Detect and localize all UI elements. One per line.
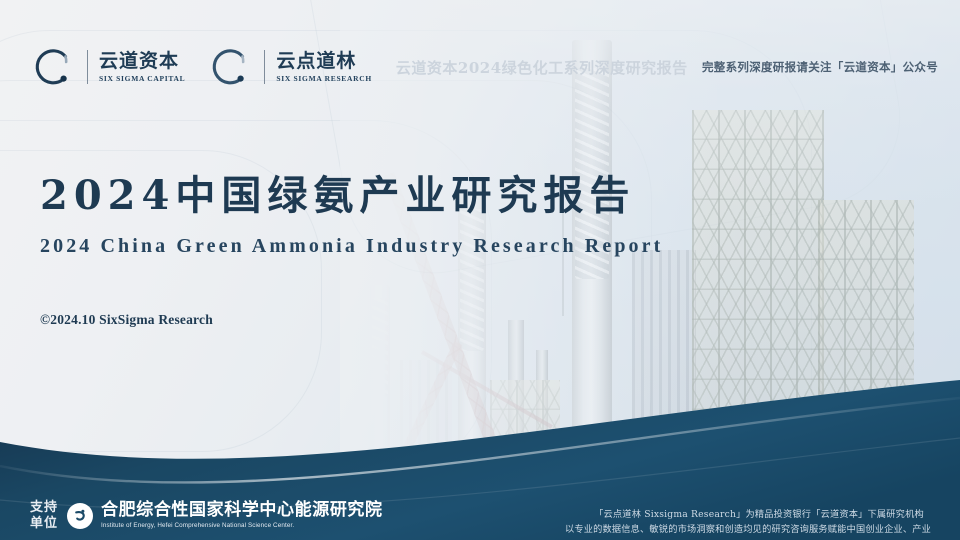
- report-cover: 云道资本 SIX SIGMA CAPITAL 云点道林 SIX SIGMA RE…: [0, 0, 960, 540]
- enso-circle-icon: [30, 44, 76, 90]
- support-unit-block: 支持 单位 合肥综合性国家科学中心能源研究院 Institute of Ener…: [30, 500, 383, 532]
- title-block: 2024中国绿氨产业研究报告 2024 China Green Ammonia …: [40, 172, 700, 258]
- logo-name-cn: 云点道林: [276, 52, 372, 71]
- series-title: 云道资本2024绿色化工系列深度研究报告: [396, 57, 688, 78]
- report-title-en: 2024 China Green Ammonia Industry Resear…: [40, 235, 700, 258]
- support-label-line2: 单位: [30, 516, 58, 531]
- disclaimer-block: 「云点道林 Sixsigma Research」为精品投资银行「云道资本」下属研…: [564, 508, 954, 538]
- support-label-line1: 支持: [30, 500, 58, 515]
- institute-name-en: Institute of Energy, Hefei Comprehensive…: [101, 523, 383, 529]
- enso-circle-icon: [207, 44, 253, 90]
- brand-logo-capital[interactable]: 云道资本 SIX SIGMA CAPITAL: [30, 44, 185, 90]
- logo-name-cn: 云道资本: [99, 52, 185, 71]
- institute-name-cn: 合肥综合性国家科学中心能源研究院: [101, 502, 383, 519]
- follow-notice: 完整系列深度研报请关注「云道资本」公众号: [702, 59, 938, 75]
- logo-name-en: SIX SIGMA RESEARCH: [276, 75, 372, 83]
- brand-logo-research[interactable]: 云点道林 SIX SIGMA RESEARCH: [207, 44, 372, 90]
- logo-divider: [264, 50, 265, 84]
- disclaimer-line: 以专业的数据信息、敏锐的市场洞察和创造均见的研究咨询服务赋能中国创业企业、产业: [542, 523, 954, 538]
- copyright-line: ©2024.10 SixSigma Research: [40, 312, 213, 328]
- cover-header: 云道资本 SIX SIGMA CAPITAL 云点道林 SIX SIGMA RE…: [0, 36, 960, 98]
- institute-swirl-icon: [67, 503, 93, 529]
- logo-name-en: SIX SIGMA CAPITAL: [99, 75, 185, 83]
- report-title-cn: 2024中国绿氨产业研究报告: [40, 172, 700, 219]
- disclaimer-line: 「云点道林 Sixsigma Research」为精品投资银行「云道资本」下属研…: [564, 508, 954, 523]
- logo-divider: [87, 50, 88, 84]
- support-unit-label: 支持 单位: [30, 500, 58, 532]
